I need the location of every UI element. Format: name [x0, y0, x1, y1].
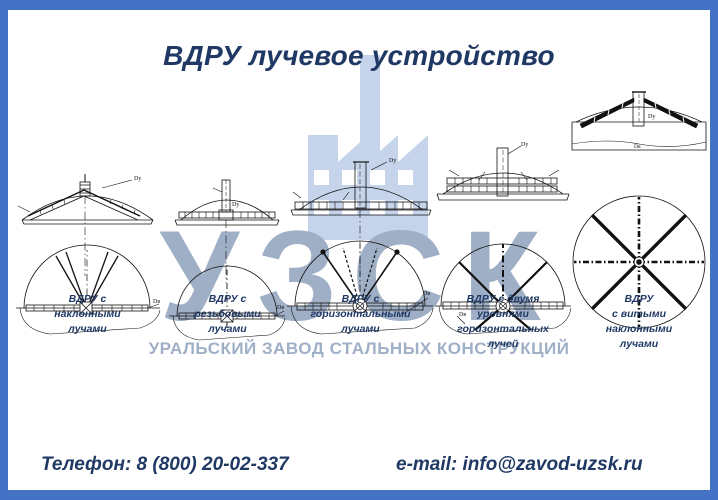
svg-text:Dв: Dв [634, 144, 641, 150]
figure-caption: ВДРУ с резьбовыми лучами [165, 292, 290, 337]
page-title: ВДРУ лучевое устройство [8, 40, 710, 72]
svg-text:Dу: Dу [389, 158, 396, 164]
slide-canvas: УЗСК УРАЛЬСКИЙ ЗАВОД СТАЛЬНЫХ КОНСТРУКЦИ… [8, 10, 710, 490]
svg-text:Dу: Dу [232, 202, 239, 208]
contact-footer: Телефон: 8 (800) 20-02-337 e-mail: info@… [8, 450, 710, 490]
phone-number[interactable]: Телефон: 8 (800) 20-02-337 [41, 454, 289, 476]
svg-text:Dу: Dу [648, 114, 655, 120]
figure-caption: ВДРУ с витыми наклонными лучами [568, 292, 710, 352]
slide-frame: УЗСК УРАЛЬСКИЙ ЗАВОД СТАЛЬНЫХ КОНСТРУКЦИ… [0, 0, 718, 500]
figure-row: Dу [8, 80, 710, 370]
svg-text:Dу: Dу [134, 176, 141, 182]
figure-caption: ВДРУ с двумя уровнями горизонтальных луч… [433, 292, 573, 352]
email-address[interactable]: e-mail: info@zavod-uzsk.ru [396, 454, 643, 476]
figure-caption: ВДРУ с наклонными лучами [10, 292, 165, 337]
svg-text:Dу: Dу [521, 142, 528, 148]
figure-caption: ВДРУ с горизонтальными лучами [283, 292, 438, 337]
